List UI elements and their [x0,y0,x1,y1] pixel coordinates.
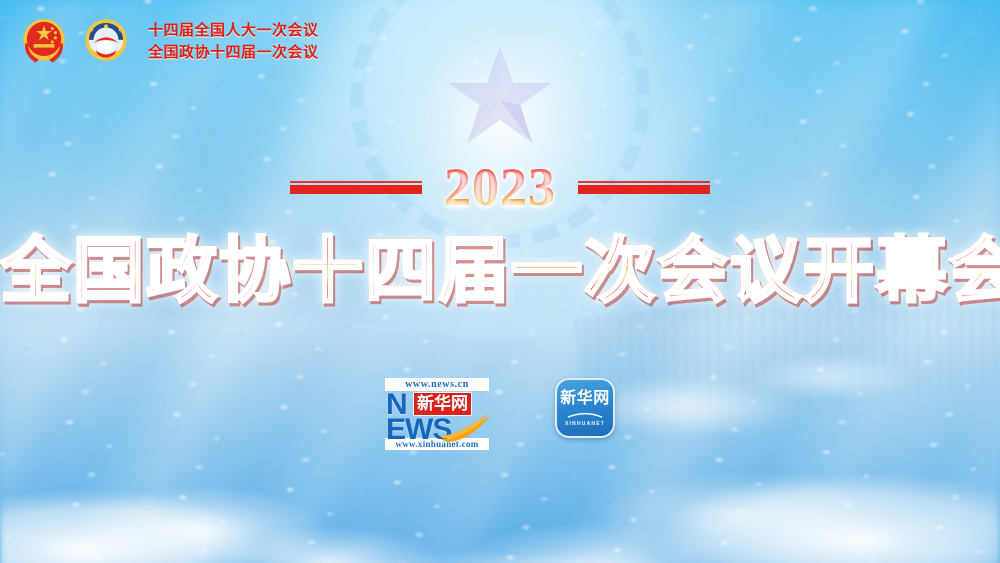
xinhuanet-app-icon[interactable]: 新华网 XINHUANET [555,378,615,438]
rule-left [290,181,422,194]
cppcc-emblem-icon [80,14,132,70]
app-icon-en-name: XINHUANET [565,421,605,427]
year-row: 2023 [0,160,1000,214]
cloud-layer-bottom [0,339,1000,563]
poster-canvas: 十四届全国人大一次会议 全国政协十四届一次会议 2023 全国政协十四届一次会议… [0,0,1000,563]
header-line-cppcc: 全国政协十四届一次会议 [148,44,319,63]
national-emblem-china-icon [18,14,70,70]
logo-row: www.news.cn N EWS 新华网 www.xinhuanet.com … [0,378,1000,450]
app-icon-cn-name: 新华网 [560,391,610,407]
xinhuanet-logo[interactable]: www.news.cn N EWS 新华网 www.xinhuanet.com [385,378,489,450]
orange-swoosh-icon [439,412,493,442]
header-line-npc: 十四届全国人大一次会议 [148,22,319,41]
page-title: 全国政协十四届一次会议开幕会 [0,236,1000,307]
rule-right [578,181,710,194]
year-label: 2023 [440,160,560,214]
header-text-block: 十四届全国人大一次会议 全国政协十四届一次会议 [148,22,319,63]
header-emblem-block: 十四届全国人大一次会议 全国政协十四届一次会议 [18,14,319,70]
xinhuanet-wordmark: N EWS 新华网 [385,391,489,437]
app-icon-arc-icon [566,410,604,419]
five-pointed-star-icon [444,42,556,154]
